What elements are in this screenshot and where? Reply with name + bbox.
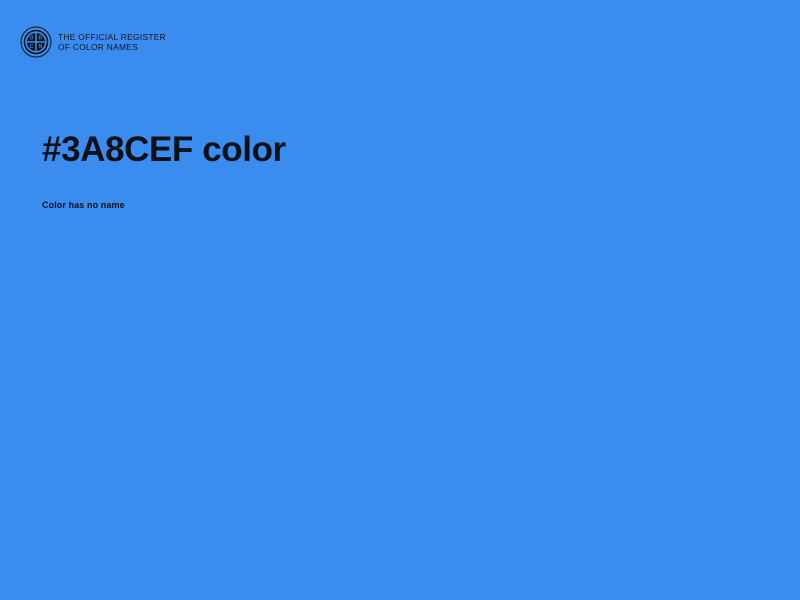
svg-text:N: N [39,44,43,50]
svg-text:R: R [39,36,43,42]
color-name-status: Color has no name [42,200,125,210]
brand-line-2: OF COLOR NAMES [58,43,166,53]
svg-text:C: C [30,44,34,50]
page-title: #3A8CEF color [42,128,742,172]
official-register-seal-icon: O R C N [20,26,52,58]
svg-text:O: O [30,36,34,42]
brand-header[interactable]: O R C N THE OFFICIAL REGISTER OF COLOR N… [20,26,166,58]
color-page: O R C N THE OFFICIAL REGISTER OF COLOR N… [0,0,800,600]
color-info-block: #3A8CEF color Color has no name [42,128,742,172]
brand-wordmark: THE OFFICIAL REGISTER OF COLOR NAMES [58,32,166,52]
